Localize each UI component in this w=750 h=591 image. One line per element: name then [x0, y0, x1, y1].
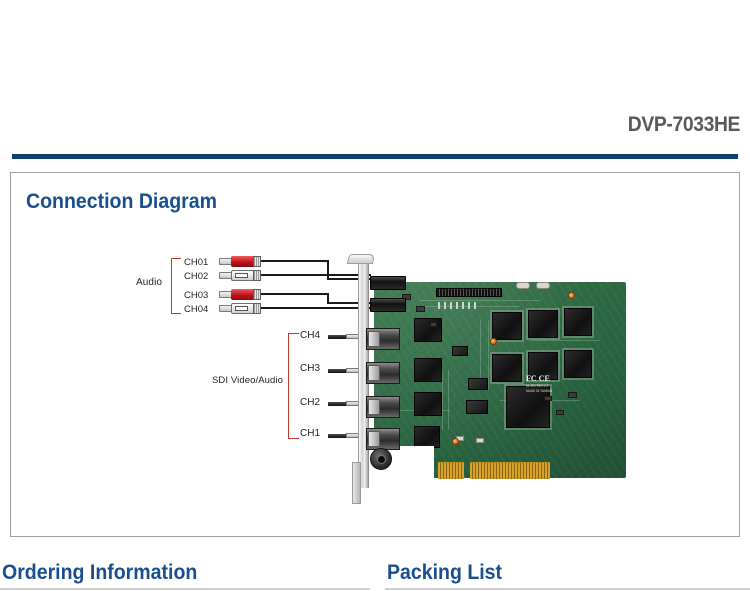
header-rule — [12, 154, 738, 159]
connection-diagram-panel — [10, 172, 740, 537]
page-title: DVP-7033HE — [628, 113, 740, 137]
section-heading-connection-diagram: Connection Diagram — [26, 190, 217, 214]
section-heading-ordering-information: Ordering Information — [2, 561, 197, 585]
packing-list-rule — [385, 588, 750, 590]
section-heading-packing-list: Packing List — [387, 561, 502, 585]
ordering-information-rule — [0, 588, 370, 590]
datasheet-page: DVP-7033HE Connection Diagram Audio CH01… — [0, 0, 750, 591]
